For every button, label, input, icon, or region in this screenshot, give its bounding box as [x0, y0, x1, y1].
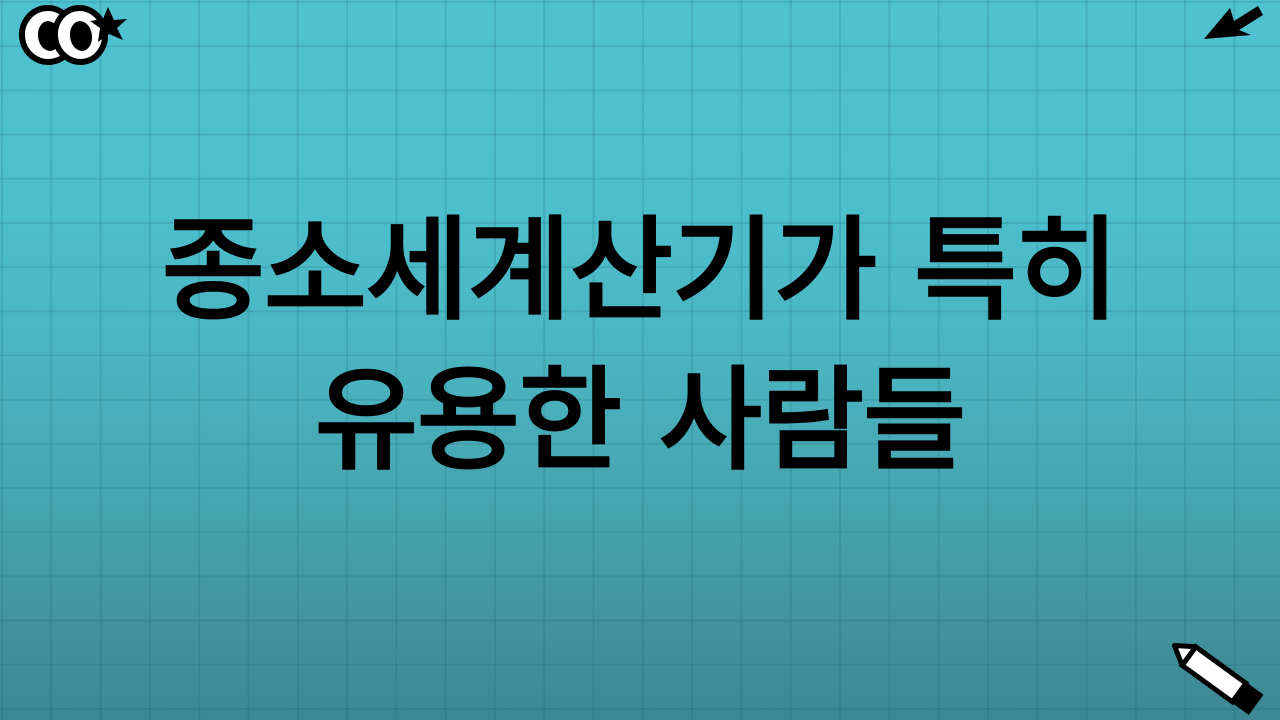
logo-icon — [8, 2, 128, 74]
arrow-cursor-icon — [1200, 2, 1264, 54]
googly-eyes-star-logo — [8, 2, 128, 74]
headline-line-1: 종소세계산기가 특히 — [0, 196, 1280, 346]
slide-canvas: 종소세계산기가 특히 유용한 사람들 — [0, 0, 1280, 720]
pencil-icon — [1168, 640, 1272, 716]
headline-line-2: 유용한 사람들 — [0, 346, 1280, 496]
pencil-glyph-icon — [1168, 640, 1272, 716]
arrow-icon — [1200, 2, 1264, 54]
headline: 종소세계산기가 특히 유용한 사람들 — [0, 196, 1280, 496]
background-grid — [0, 0, 1280, 720]
